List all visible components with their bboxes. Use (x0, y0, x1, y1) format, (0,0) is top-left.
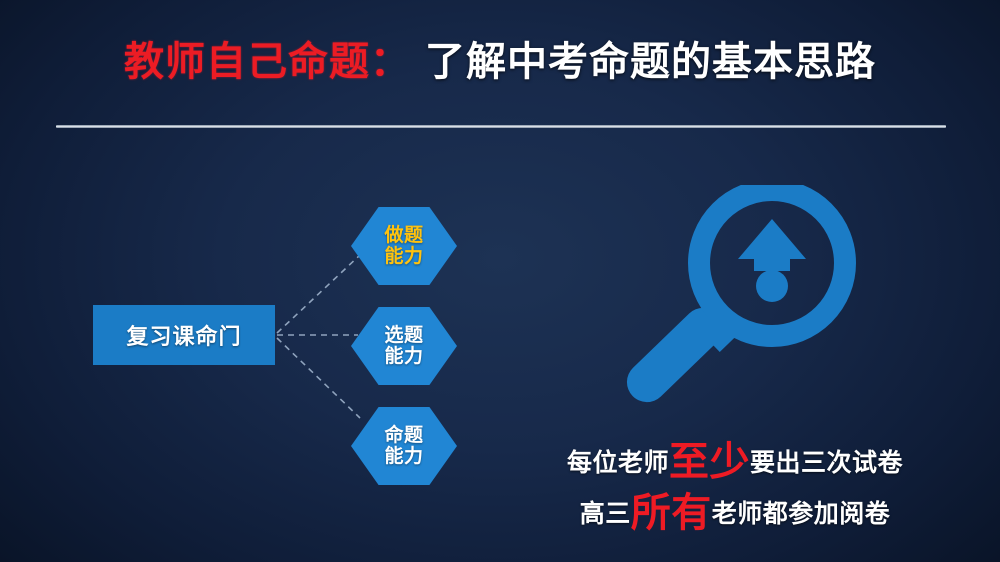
caption-line-2-before: 高三 (580, 499, 631, 528)
caption-line-1: 每位老师至少要出三次试卷 (520, 437, 950, 488)
page-title-highlight: 教师自己命题： (124, 39, 411, 85)
diagram-root-label: 复习课命门 (126, 319, 241, 351)
caption-line-1-after: 要出三次试卷 (750, 448, 903, 477)
branch-3-label-line1: 命题 (384, 425, 423, 446)
caption-line-2-accent: 所有 (631, 490, 712, 536)
connector-line-1 (277, 255, 360, 333)
caption-line-1-before: 每位老师 (567, 448, 669, 477)
caption-line-1-accent: 至少 (669, 439, 750, 485)
page-title: 教师自己命题：了解中考命题的基本思路 (0, 42, 1000, 82)
caption-line-2: 高三所有老师都参加阅卷 (520, 488, 950, 539)
caption-block: 每位老师至少要出三次试卷 高三所有老师都参加阅卷 (520, 437, 950, 539)
branch-2-label-line1: 选题 (384, 325, 423, 346)
title-underline-divider (56, 125, 946, 128)
branch-3-label-line2: 能力 (384, 446, 423, 467)
branch-1-label-line2: 能力 (384, 246, 423, 267)
connector-line-3 (277, 338, 360, 418)
page-title-main: 了解中考命题的基本思路 (425, 39, 876, 85)
diagram-root-node[interactable]: 复习课命门 (93, 305, 275, 365)
diagram-branch-node-2[interactable]: 选题 能力 (351, 307, 457, 385)
branch-1-label-line1: 做题 (384, 225, 423, 246)
branch-2-label-line2: 能力 (384, 346, 423, 367)
diagram-branch-node-1[interactable]: 做题 能力 (351, 207, 457, 285)
magnifying-glass-with-up-arrow-icon (620, 185, 870, 410)
slide-canvas: 教师自己命题：了解中考命题的基本思路 复习课命门 做题 能力 选题 能力 命题 … (0, 0, 1000, 562)
caption-line-2-after: 老师都参加阅卷 (712, 499, 891, 528)
diagram-branch-node-3[interactable]: 命题 能力 (351, 407, 457, 485)
